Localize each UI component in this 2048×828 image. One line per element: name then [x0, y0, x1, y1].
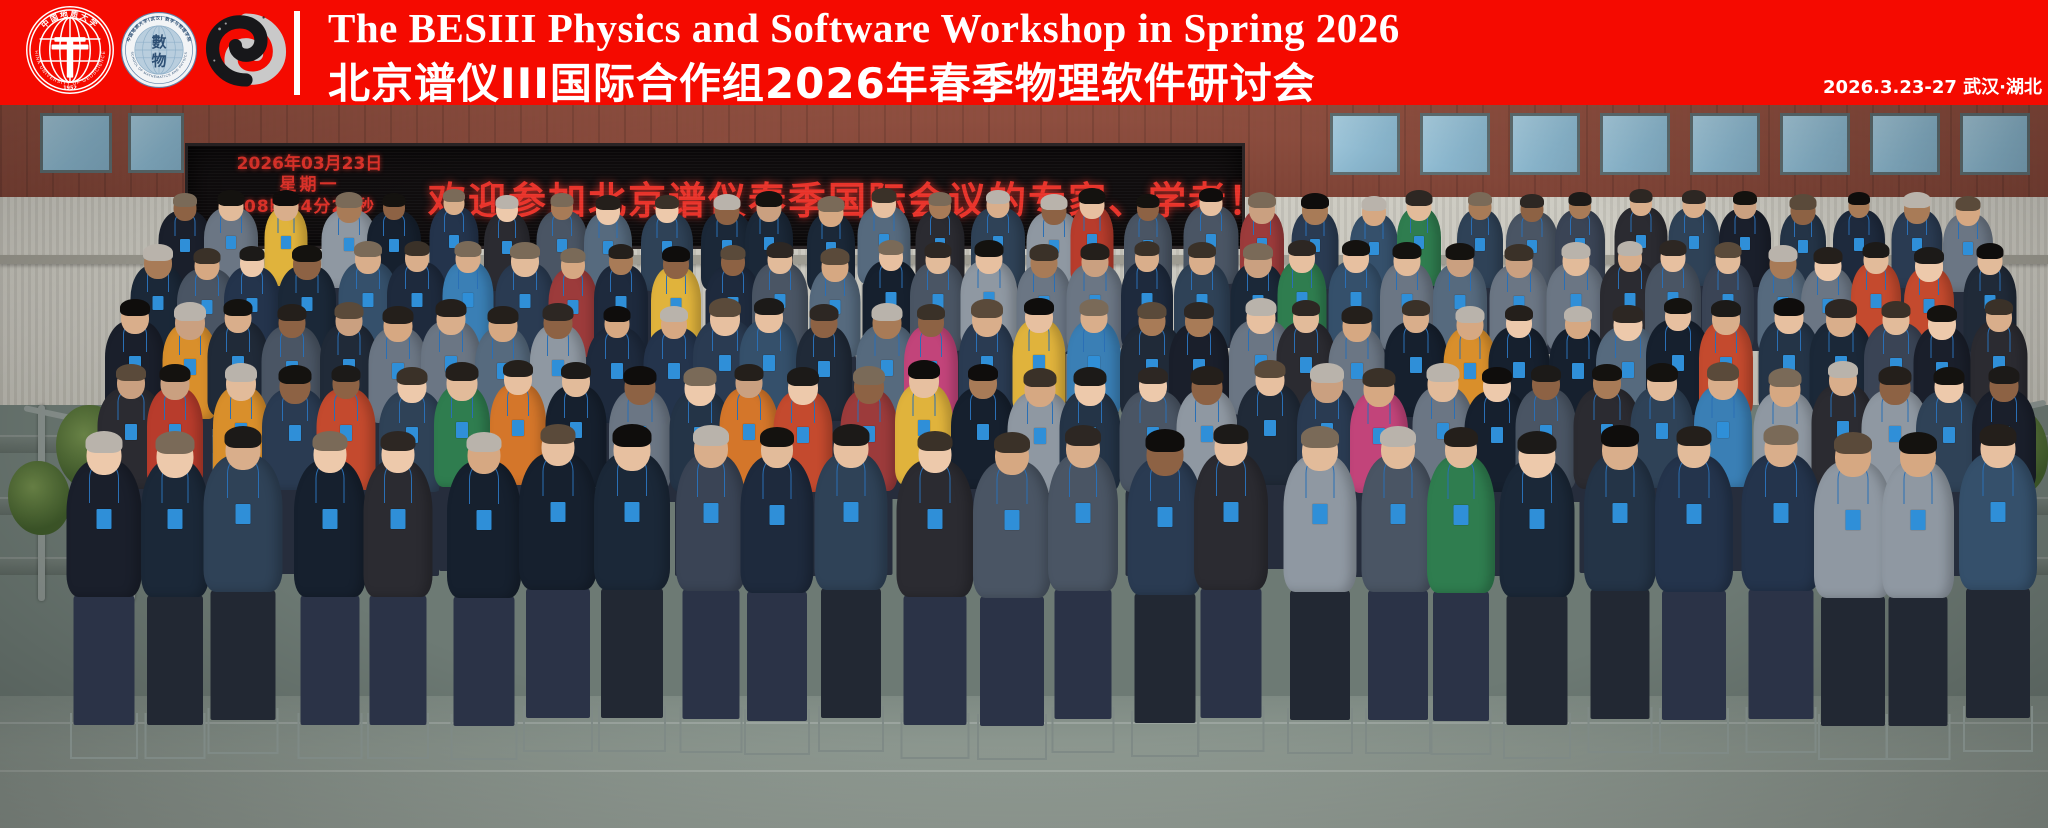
- attendee-hair: [1288, 240, 1316, 256]
- attendee-hair: [1517, 431, 1556, 454]
- attendee-hair: [872, 303, 903, 321]
- attendee-lower-body: [1055, 589, 1112, 719]
- attendee-hair: [1569, 192, 1592, 206]
- attendee-chair: [1198, 706, 1265, 752]
- attendee-lower-body: [1966, 588, 2030, 718]
- attendee-chair: [70, 713, 138, 759]
- attendee-hair: [1863, 242, 1890, 258]
- attendee-name-badge: [1224, 502, 1239, 522]
- attendee-lower-body: [1290, 590, 1350, 720]
- attendee-hair: [405, 241, 430, 256]
- attendee-hair: [240, 246, 265, 261]
- attendee-hair: [194, 248, 221, 264]
- attendee-lower-body: [1662, 590, 1726, 720]
- attendee-hair: [1564, 306, 1592, 322]
- attendee-hair: [1646, 363, 1678, 382]
- attendee-lower-body: [747, 591, 807, 721]
- attendee-hair: [277, 304, 306, 321]
- attendee-hair: [1138, 367, 1168, 384]
- attendee-hair: [279, 365, 312, 384]
- attendee-hair: [1763, 425, 1798, 445]
- attendee-name-badge: [323, 509, 338, 529]
- attendee: [1044, 424, 1122, 674]
- attendee-hair: [1768, 245, 1797, 262]
- attendee-hair: [596, 195, 621, 210]
- attendee-hair: [85, 431, 122, 453]
- attendee-lower-body: [601, 588, 663, 718]
- attendee-lower-body: [1821, 596, 1885, 726]
- attendee-hair: [1733, 191, 1757, 205]
- attendee: [290, 430, 370, 680]
- attendee-name-badge: [704, 503, 719, 523]
- attendee-name-badge: [1312, 504, 1327, 524]
- attendee-hair: [1073, 367, 1106, 386]
- attendee-hair: [986, 190, 1010, 204]
- attendee-hair: [560, 248, 585, 263]
- attendee-chair: [1431, 709, 1492, 755]
- attendee-hair: [1927, 305, 1957, 322]
- attendee-hair: [925, 242, 952, 258]
- attendee-name-badge: [477, 510, 492, 530]
- attendee-hair: [561, 362, 591, 379]
- attendee-lower-body: [73, 595, 134, 725]
- attendee-hair: [1243, 243, 1273, 260]
- attendee-hair: [603, 306, 630, 322]
- attendee-hair: [1135, 241, 1160, 256]
- attendee-hair: [1446, 243, 1475, 260]
- attendee-hair: [1903, 192, 1931, 208]
- attendee-hair: [1023, 368, 1056, 387]
- attendee-hair: [760, 427, 794, 447]
- attendee-lower-body: [1134, 593, 1195, 723]
- attendee-hair: [488, 306, 519, 324]
- attendee-hair: [443, 189, 465, 202]
- attendee-lower-body: [369, 595, 426, 725]
- attendee-hair: [1393, 242, 1422, 259]
- attendee-hair: [754, 298, 784, 315]
- workshop-title-english: The BESIII Physics and Software Workshop…: [328, 4, 1400, 52]
- attendee-lower-body: [903, 595, 966, 725]
- attendee-lower-body: [526, 588, 590, 718]
- attendee-lower-body: [1433, 591, 1489, 721]
- attendee-hair: [331, 365, 360, 382]
- logo-group: 1952 中国地质大学 CHINA UNIVERSITY OF GEOSCIEN…: [0, 4, 290, 101]
- attendee-hair: [1989, 366, 2020, 384]
- attendee-chair: [680, 707, 743, 753]
- attendee-hair: [173, 193, 197, 207]
- attendee-hair: [1505, 305, 1533, 321]
- attendee-hair: [1080, 299, 1109, 316]
- workshop-title-chinese: 北京谱仪III国际合作组2026年春季物理软件研讨会: [328, 50, 1316, 111]
- attendee-hair: [446, 362, 479, 381]
- attendee-hair: [609, 244, 634, 259]
- attendee-hair: [1976, 243, 2003, 259]
- attendee-chair: [1503, 713, 1571, 759]
- attendee-hair: [660, 306, 688, 322]
- attendee-chair: [1745, 707, 1816, 753]
- attendee-hair: [1301, 193, 1329, 209]
- attendee-chair: [977, 714, 1047, 760]
- attendee-chair: [900, 713, 969, 759]
- attendee-hair: [1956, 196, 1981, 211]
- attendee: [1955, 423, 2041, 673]
- attendee-hair: [1825, 299, 1857, 318]
- attendee-hair: [1426, 363, 1459, 382]
- attendee-hair: [662, 246, 690, 262]
- attendee-hair: [1677, 426, 1712, 446]
- attendee-hair: [1914, 247, 1944, 264]
- attendee: [590, 423, 674, 673]
- attendee: [810, 423, 891, 673]
- attendee-hair: [1040, 194, 1067, 210]
- attendee-hair: [541, 424, 576, 444]
- attendee-name-badge: [1687, 504, 1702, 524]
- attendee-chair: [818, 706, 884, 752]
- attendee-hair: [1934, 367, 1965, 385]
- attendee-hair: [1402, 300, 1430, 316]
- attendee-hair: [1137, 194, 1160, 208]
- attendee-hair: [1980, 424, 2017, 446]
- attendee-name-badge: [1613, 503, 1628, 523]
- attendee-lower-body: [454, 596, 515, 726]
- attendee-hair: [436, 299, 467, 317]
- attendee-hair: [467, 432, 502, 452]
- attendee-chair: [1052, 707, 1115, 753]
- attendee-hair: [994, 432, 1030, 453]
- attendee-hair: [1188, 242, 1216, 258]
- attendee-hair: [382, 306, 413, 324]
- attendee-name-badge: [235, 504, 250, 524]
- attendee-hair: [1406, 190, 1433, 206]
- attendee-hair: [223, 299, 252, 316]
- attendee-hair: [1618, 241, 1643, 256]
- attendee-hair: [272, 190, 299, 206]
- attendee-hair: [383, 193, 406, 207]
- attendee-name-badge: [1005, 510, 1020, 530]
- attendee-name-badge: [96, 509, 111, 529]
- attendee-name-badge: [1846, 510, 1861, 530]
- attendee: [736, 426, 817, 676]
- attendee: [892, 430, 977, 680]
- attendee-hair: [1773, 298, 1804, 316]
- attendee-hair: [1664, 298, 1692, 314]
- attendee-lower-body: [1368, 590, 1428, 720]
- attendee-name-badge: [1390, 504, 1405, 524]
- attendee-hair: [787, 367, 819, 386]
- svg-text:1952: 1952: [63, 86, 77, 92]
- attendee-hair: [1711, 300, 1741, 317]
- attendee-hair: [397, 367, 428, 385]
- attendee-hair: [1882, 301, 1911, 318]
- attendee-hair: [1214, 424, 1249, 444]
- attendee-chair: [367, 713, 429, 759]
- attendee: [515, 423, 601, 673]
- attendee-hair: [820, 248, 849, 265]
- attendee-hair: [1520, 194, 1544, 208]
- attendee-hair: [878, 240, 903, 255]
- attendee: [1878, 431, 1958, 681]
- attendee: [199, 425, 286, 675]
- attendee-hair: [1561, 242, 1590, 259]
- china-university-of-geosciences-logo: 1952 中国地质大学 CHINA UNIVERSITY OF GEOSCIEN…: [24, 4, 116, 101]
- attendee-hair: [734, 364, 763, 381]
- attendee-hair: [1592, 364, 1622, 381]
- attendee-hair: [1080, 243, 1109, 260]
- attendee-lower-body: [1591, 589, 1650, 719]
- banner-titles: The BESIII Physics and Software Workshop…: [320, 0, 2048, 105]
- crowd-of-attendees: [0, 105, 2048, 828]
- attendee-hair: [335, 192, 362, 208]
- attendee-hair: [1878, 366, 1911, 385]
- attendee-hair: [225, 363, 257, 382]
- attendee-name-badge: [843, 502, 858, 522]
- attendee-hair: [810, 304, 839, 321]
- attendee-lower-body: [210, 590, 275, 720]
- attendee-hair: [767, 242, 794, 258]
- attendee-chair: [1588, 707, 1653, 753]
- attendee-hair: [313, 431, 348, 451]
- attendee-chair: [207, 708, 278, 754]
- attendee-name-badge: [390, 509, 405, 529]
- attendee-name-badge: [1076, 503, 1091, 523]
- attendee-chair: [1365, 708, 1431, 754]
- attendee-hair: [720, 245, 745, 260]
- attendee-hair: [1138, 302, 1167, 319]
- attendee-hair: [1707, 362, 1739, 381]
- attendee-hair: [974, 240, 1003, 257]
- attendee-hair: [683, 367, 716, 386]
- attendee-name-badge: [1773, 503, 1788, 523]
- attendee-hair: [1790, 194, 1817, 210]
- attendee-hair: [1342, 240, 1370, 256]
- attendee-hair: [1629, 189, 1652, 203]
- attendee-hair: [354, 241, 382, 257]
- attendee-hair: [1248, 192, 1276, 208]
- attendee-hair: [1292, 300, 1320, 316]
- attendee-hair: [503, 360, 533, 377]
- attendee-hair: [928, 192, 951, 206]
- attendee-chair: [1818, 714, 1888, 760]
- attendee-chair: [1886, 714, 1951, 760]
- attendee: [359, 430, 436, 680]
- attendee-name-badge: [1911, 510, 1926, 530]
- attendee: [62, 430, 145, 680]
- attendee-hair: [1814, 247, 1843, 264]
- attendee-name-badge: [1157, 507, 1172, 527]
- attendee: [1190, 423, 1272, 673]
- attendee-hair: [853, 366, 885, 385]
- attendee-name-badge: [1454, 505, 1469, 525]
- attendee-lower-body: [1201, 588, 1262, 718]
- attendee-hair: [543, 303, 574, 321]
- workshop-date-location: 2026.3.23-27 武汉·湖北: [1823, 73, 2042, 99]
- attendee-hair: [1065, 425, 1101, 446]
- attendee-hair: [1899, 432, 1937, 454]
- attendee-hair: [1444, 427, 1478, 447]
- attendee-hair: [335, 302, 364, 319]
- attendee-hair: [496, 195, 519, 209]
- attendee-hair: [1834, 432, 1872, 454]
- attendee-lower-body: [683, 589, 740, 719]
- attendee-hair: [510, 242, 540, 259]
- attendee: [1423, 426, 1499, 676]
- attendee-lower-body: [147, 595, 203, 725]
- attendee-hair: [224, 426, 261, 448]
- attendee-name-badge: [551, 502, 566, 522]
- attendee-hair: [1145, 429, 1184, 452]
- attendee-lower-body: [1889, 596, 1948, 726]
- attendee-chair: [1131, 711, 1199, 757]
- attendee-hair: [1310, 363, 1344, 383]
- attendee-hair: [917, 304, 945, 320]
- attendee-hair: [908, 360, 940, 379]
- attendee-name-badge: [1350, 292, 1361, 306]
- attendee-name-badge: [1529, 509, 1544, 529]
- attendee: [1279, 425, 1360, 675]
- svg-text:數: 數: [152, 33, 167, 51]
- school-of-mathematics-and-physics-logo: 數 物 中国地质大学(武汉) 数学与物理学院 SCHOOL OF MATHEMA…: [120, 11, 198, 94]
- attendee-hair: [871, 188, 896, 203]
- attendee-hair: [218, 190, 245, 206]
- attendee-hair: [1341, 306, 1372, 324]
- attendee-hair: [550, 193, 573, 207]
- attendee-hair: [968, 364, 998, 381]
- attendee-chair: [451, 714, 518, 760]
- attendee-hair: [454, 241, 481, 257]
- attendee-hair: [1985, 299, 2013, 315]
- besiii-spiral-logo: [202, 6, 290, 99]
- attendee-hair: [613, 424, 652, 447]
- attendee-hair: [160, 364, 191, 382]
- attendee-lower-body: [821, 588, 881, 718]
- attendee-hair: [1455, 306, 1484, 323]
- attendee-hair: [1482, 367, 1512, 384]
- attendee-hair: [1255, 360, 1286, 378]
- attendee-hair: [1024, 298, 1054, 315]
- attendee-hair: [624, 366, 657, 385]
- conference-group-photo-poster: 1952 中国地质大学 CHINA UNIVERSITY OF GEOSCIEN…: [0, 0, 2048, 828]
- attendee-hair: [1184, 302, 1214, 319]
- attendee-chair: [744, 709, 810, 755]
- attendee-chair: [1963, 706, 2033, 752]
- attendee-hair: [1078, 188, 1105, 204]
- attendee-hair: [1029, 244, 1058, 261]
- attendee-hair: [156, 431, 195, 454]
- attendee-name-badge: [168, 509, 183, 529]
- attendee-hair: [120, 299, 150, 316]
- attendee: [1580, 424, 1660, 674]
- attendee-hair: [917, 431, 952, 451]
- attendee: [443, 431, 525, 681]
- attendee-hair: [714, 194, 741, 210]
- attendee-hair: [1531, 365, 1561, 382]
- attendee-hair: [1363, 368, 1396, 387]
- attendee-hair: [756, 191, 783, 207]
- attendee-hair: [1715, 242, 1742, 258]
- attendee-chair: [145, 713, 206, 759]
- attendee-chair: [598, 706, 666, 752]
- attendee-hair: [1301, 426, 1339, 448]
- attendee-chair: [523, 706, 593, 752]
- attendee-hair: [655, 195, 679, 209]
- attendee-hair: [1601, 425, 1639, 447]
- attendee-hair: [1504, 244, 1533, 261]
- attendee-hair: [1380, 426, 1416, 447]
- attendee-hair: [1190, 366, 1223, 385]
- attendee-hair: [1362, 196, 1387, 211]
- attendee: [1495, 430, 1578, 680]
- attendee-name-badge: [769, 505, 784, 525]
- attendee-hair: [292, 245, 322, 262]
- attendee-hair: [1468, 192, 1492, 206]
- poster-banner: 1952 中国地质大学 CHINA UNIVERSITY OF GEOSCIEN…: [0, 0, 2048, 105]
- attendee-hair: [174, 302, 206, 321]
- attendee-name-badge: [625, 502, 640, 522]
- attendee-lower-body: [980, 596, 1044, 726]
- attendee: [969, 431, 1055, 681]
- svg-text:物: 物: [152, 52, 167, 70]
- banner-divider: [294, 11, 300, 95]
- attendee-hair: [1199, 188, 1223, 202]
- group-photo: 2026年03月23日 星期一 08时04分28秒 欢迎参加北京谱仪春季国际会议…: [0, 105, 2048, 828]
- attendee-hair: [116, 364, 146, 381]
- attendee-hair: [693, 425, 729, 446]
- attendee-lower-body: [301, 595, 360, 725]
- attendee-hair: [971, 299, 1003, 318]
- attendee-lower-body: [1506, 595, 1567, 725]
- attendee: [1651, 425, 1737, 675]
- attendee-hair: [1682, 190, 1706, 204]
- attendee-hair: [818, 196, 845, 212]
- attendee-hair: [1613, 305, 1644, 323]
- attendee-name-badge: [1991, 502, 2006, 522]
- attendee-chair: [298, 713, 363, 759]
- attendee-name-badge: [927, 509, 942, 529]
- attendee-hair: [380, 431, 415, 451]
- attendee-chair: [1287, 708, 1353, 754]
- attendee-lower-body: [1748, 589, 1813, 719]
- attendee-hair: [1768, 368, 1801, 387]
- attendee-hair: [1828, 361, 1858, 378]
- attendee-hair: [143, 244, 173, 261]
- attendee-hair: [1848, 192, 1870, 205]
- attendee-hair: [832, 424, 869, 446]
- attendee-hair: [1660, 240, 1687, 256]
- attendee-chair: [1659, 708, 1729, 754]
